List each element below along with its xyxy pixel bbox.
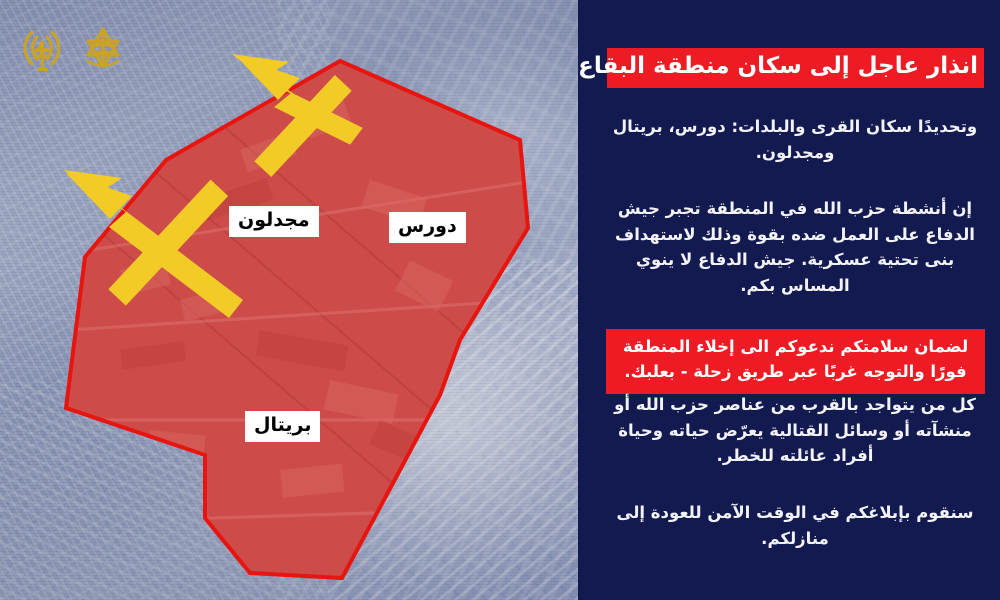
- map-label-majdaloun: مجدلون: [229, 206, 319, 237]
- headline-banner: انذار عاجل إلى سكان منطقة البقاع: [607, 48, 984, 88]
- evacuation-instruction-callout: لضمان سلامتكم ندعوكم الى إخلاء المنطقة ف…: [606, 329, 985, 394]
- map-label-doures: دورس: [389, 212, 466, 243]
- satellite-map-panel: مجدلون دورس بريتال: [0, 0, 578, 600]
- idf-insignia-icon: [78, 22, 128, 74]
- emblem-group: [16, 22, 128, 74]
- reason-paragraph: إن أنشطة حزب الله في المنطقة تجبر جيش ال…: [612, 196, 978, 298]
- warning-text-panel: انذار عاجل إلى سكان منطقة البقاع وتحديدً…: [578, 0, 1000, 600]
- broadcast-menorah-icon: [16, 22, 68, 74]
- safe-return-paragraph: سنقوم بإبلاغكم في الوقت الآمن للعودة إلى…: [612, 500, 978, 551]
- warning-graphic: مجدلون دورس بريتال: [0, 0, 1000, 600]
- villages-paragraph: وتحديدًا سكان القرى والبلدات: دورس، بريت…: [612, 114, 978, 165]
- zone-overlay: [0, 0, 578, 600]
- map-label-brital: بريتال: [245, 411, 320, 442]
- proximity-warning-paragraph: كل من يتواجد بالقرب من عناصر حزب الله أو…: [612, 392, 978, 469]
